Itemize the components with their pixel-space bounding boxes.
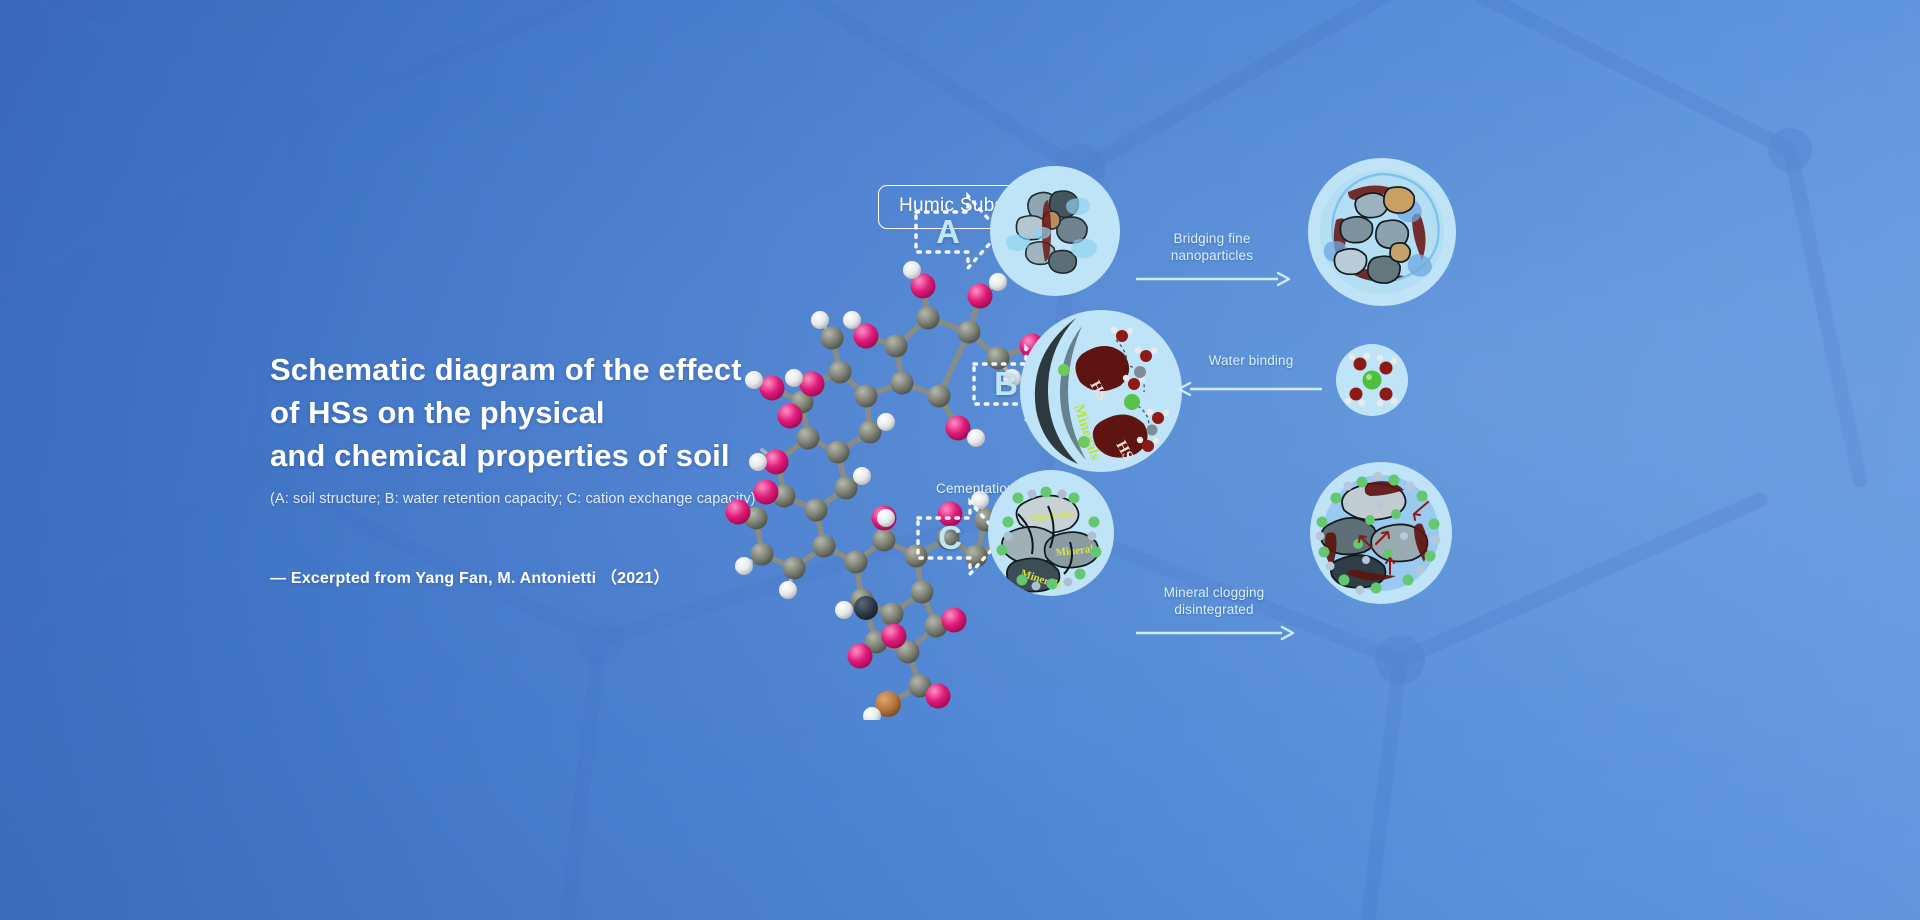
schematic-diagram: Humic Substances [840, 0, 1920, 920]
flow-a-arrow-right [1132, 271, 1292, 287]
water-molecule [1147, 409, 1169, 424]
water-molecule [1377, 388, 1398, 407]
water-molecule [1349, 353, 1371, 371]
water-molecule [1377, 355, 1398, 375]
flow-a: Bridging fine nanoparticles [1132, 230, 1292, 292]
water-molecule [1111, 327, 1133, 342]
water-molecule [1345, 388, 1366, 407]
flow-b-arrow-left [1176, 381, 1326, 397]
circle-a-loose-particles [990, 166, 1120, 296]
flow-a-label: Bridging fine nanoparticles [1132, 230, 1292, 265]
flow-b-label: Water binding [1176, 352, 1326, 369]
flow-b: Water binding [1176, 352, 1326, 402]
circle-b-hydrated-cation [1336, 344, 1408, 416]
water-molecule [1135, 347, 1157, 362]
flow-c: Mineral clogging disintegrated [1132, 584, 1296, 646]
flow-c-arrow-right [1132, 625, 1296, 641]
circle-b-hs-mineral-water: Minerals HS HS [1020, 310, 1182, 472]
circle-a-aggregated-particles [1308, 158, 1456, 306]
circle-c-disintegrated-clogging [1310, 462, 1452, 604]
stage-arrow-a-letter: A [916, 188, 980, 276]
circle-c-mineral-cementation: Minerals Minerals Minerals [988, 470, 1114, 596]
flow-c-label: Mineral clogging disintegrated [1132, 584, 1296, 619]
stage-arrow-c-letter: C [918, 494, 982, 582]
